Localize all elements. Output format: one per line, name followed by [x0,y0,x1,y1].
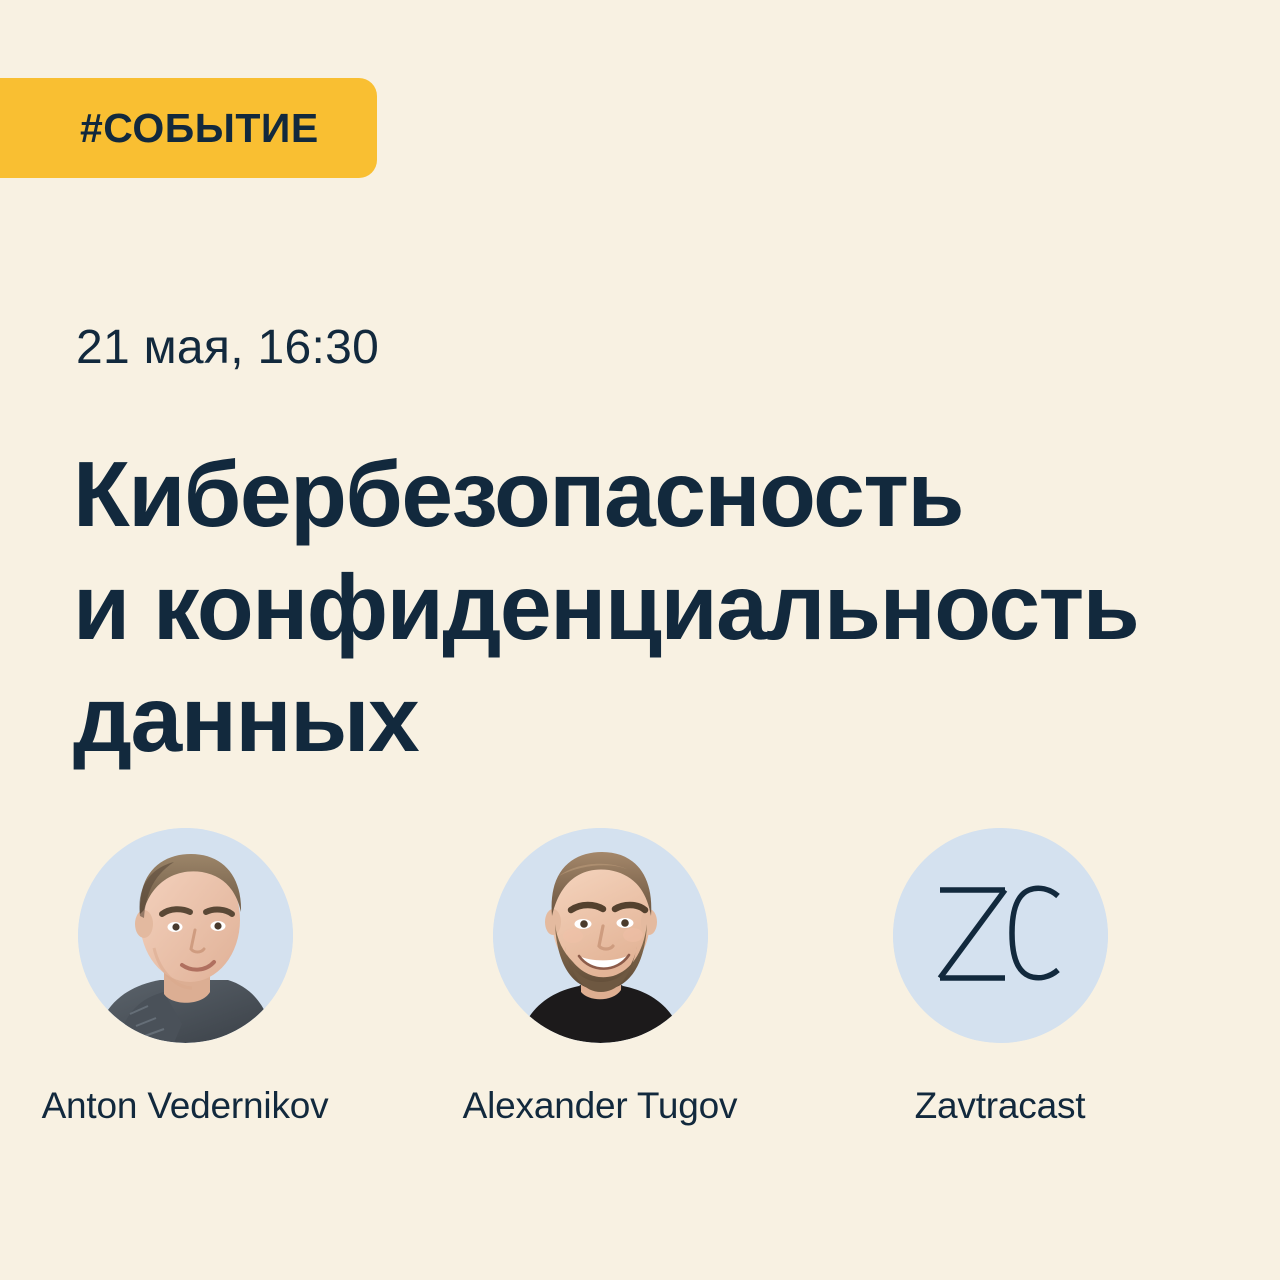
event-date: 21 мая, 16:30 [76,322,379,375]
speaker-card-1: Anton Vedernikov [55,828,315,1124]
event-category-badge: #СОБЫТИЕ [0,78,377,178]
speaker-card-2: Alexander Tugov [470,828,730,1124]
event-title: Кибербезопасность и конфиденциальность д… [73,438,1213,776]
event-title-line-3: данных [73,663,1213,776]
speaker-name-3: Zavtracast [915,1087,1086,1124]
speaker-name-1: Anton Vedernikov [42,1087,329,1124]
event-title-line-2: и конфиденциальность [73,551,1213,664]
speaker-avatar-photo-2 [493,828,708,1043]
badge-label: #СОБЫТИЕ [80,108,319,149]
event-title-line-1: Кибербезопасность [73,438,1213,551]
event-poster: #СОБЫТИЕ 21 мая, 16:30 Кибербезопасность… [0,0,1280,1280]
speaker-name-2: Alexander Tugov [463,1087,738,1124]
speaker-avatar-photo-1 [78,828,293,1043]
speaker-avatar-logo-zc [893,828,1108,1043]
speaker-card-3: Zavtracast [870,828,1130,1124]
speakers-row: Anton Vedernikov [0,828,1280,1168]
